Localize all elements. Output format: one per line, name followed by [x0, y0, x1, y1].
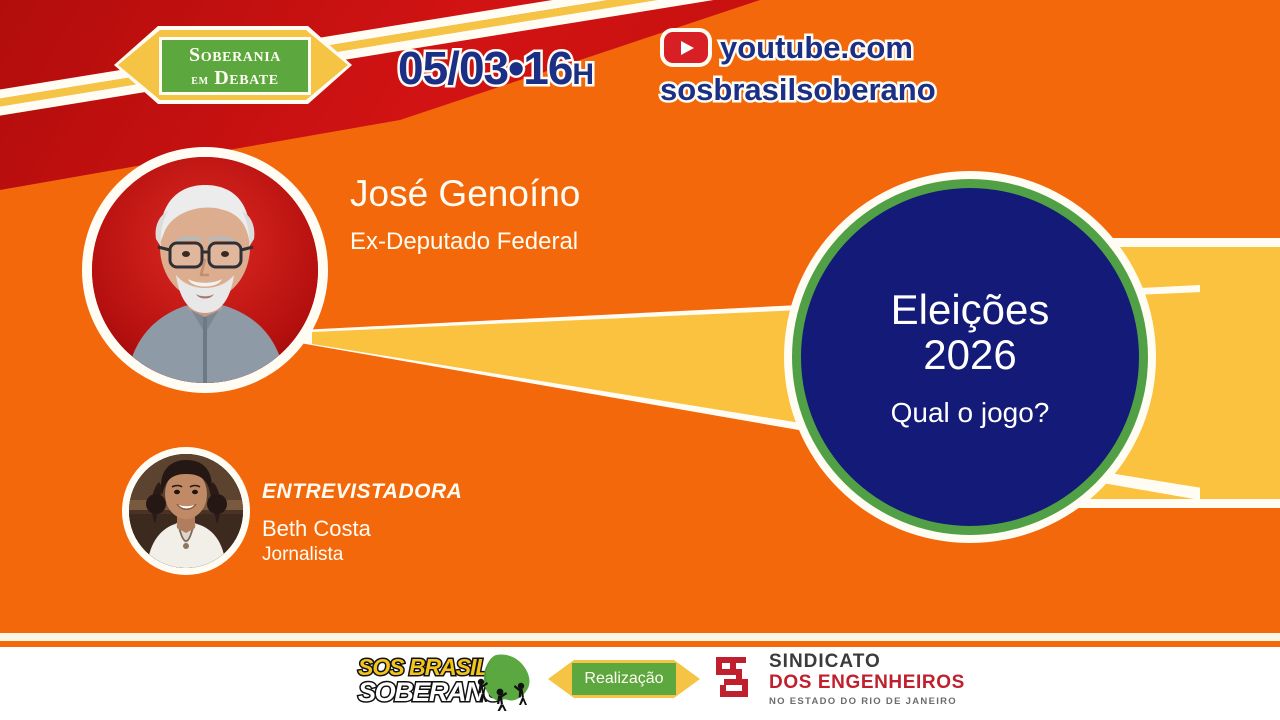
interviewer-photo	[129, 454, 243, 568]
realizacao-badge: Realização	[548, 660, 700, 698]
interviewer-role: Jornalista	[262, 545, 343, 564]
interviewer-name: Beth Costa	[262, 518, 371, 540]
sindicato-line3: NO ESTADO DO RIO DE JANEIRO	[769, 697, 965, 707]
datetime-separator: •	[508, 42, 523, 94]
sindicato-s-logo-icon	[712, 654, 758, 706]
interviewer-label: ENTREVISTADORA	[262, 481, 462, 502]
event-date: 05/03	[398, 42, 508, 94]
sindicato-line1: SINDICATO	[769, 652, 965, 673]
youtube-row[interactable]: youtube.com	[664, 32, 913, 63]
sindicato-line2: DOS ENGENHEIROS	[769, 673, 965, 694]
speaker-photo	[92, 157, 318, 383]
event-time: 16	[523, 42, 572, 94]
sos-brasil-soberano-logo: SOS BRASIL SOBERANO	[358, 652, 538, 712]
promo-graphic: Soberania em Debate 05/03•16H youtube.co…	[0, 0, 1280, 720]
brazil-map-icon	[466, 652, 538, 717]
realizacao-box: Realização	[572, 663, 676, 695]
sindicato-text-block: SINDICATO DOS ENGENHEIROS NO ESTADO DO R…	[769, 652, 965, 707]
logo-plate: Soberania em Debate	[159, 37, 311, 95]
youtube-icon	[664, 32, 708, 63]
footer-divider-white	[0, 633, 1280, 641]
realizacao-label: Realização	[584, 671, 663, 687]
event-time-unit: H	[572, 58, 593, 91]
logo-line1: Soberania	[189, 45, 281, 65]
youtube-domain: youtube.com	[720, 32, 913, 63]
topic-circle: Eleições 2026 Qual o jogo?	[801, 188, 1139, 526]
speaker-name: José Genoíno	[350, 175, 580, 212]
youtube-channel[interactable]: sosbrasilsoberano	[660, 74, 936, 105]
sindicato-logo: SINDICATO DOS ENGENHEIROS NO ESTADO DO R…	[712, 652, 965, 707]
soberania-em-debate-logo: Soberania em Debate	[118, 28, 348, 102]
event-datetime: 05/03•16H	[398, 45, 593, 91]
speaker-role: Ex-Deputado Federal	[350, 230, 578, 254]
topic-title-line2: 2026	[923, 332, 1016, 377]
topic-subtitle: Qual o jogo?	[891, 399, 1050, 427]
topic-title-line1: Eleições	[891, 287, 1050, 332]
logo-line2: em Debate	[191, 68, 278, 88]
logo-line2-small: em	[191, 73, 208, 88]
logo-line2-main: Debate	[214, 67, 278, 89]
